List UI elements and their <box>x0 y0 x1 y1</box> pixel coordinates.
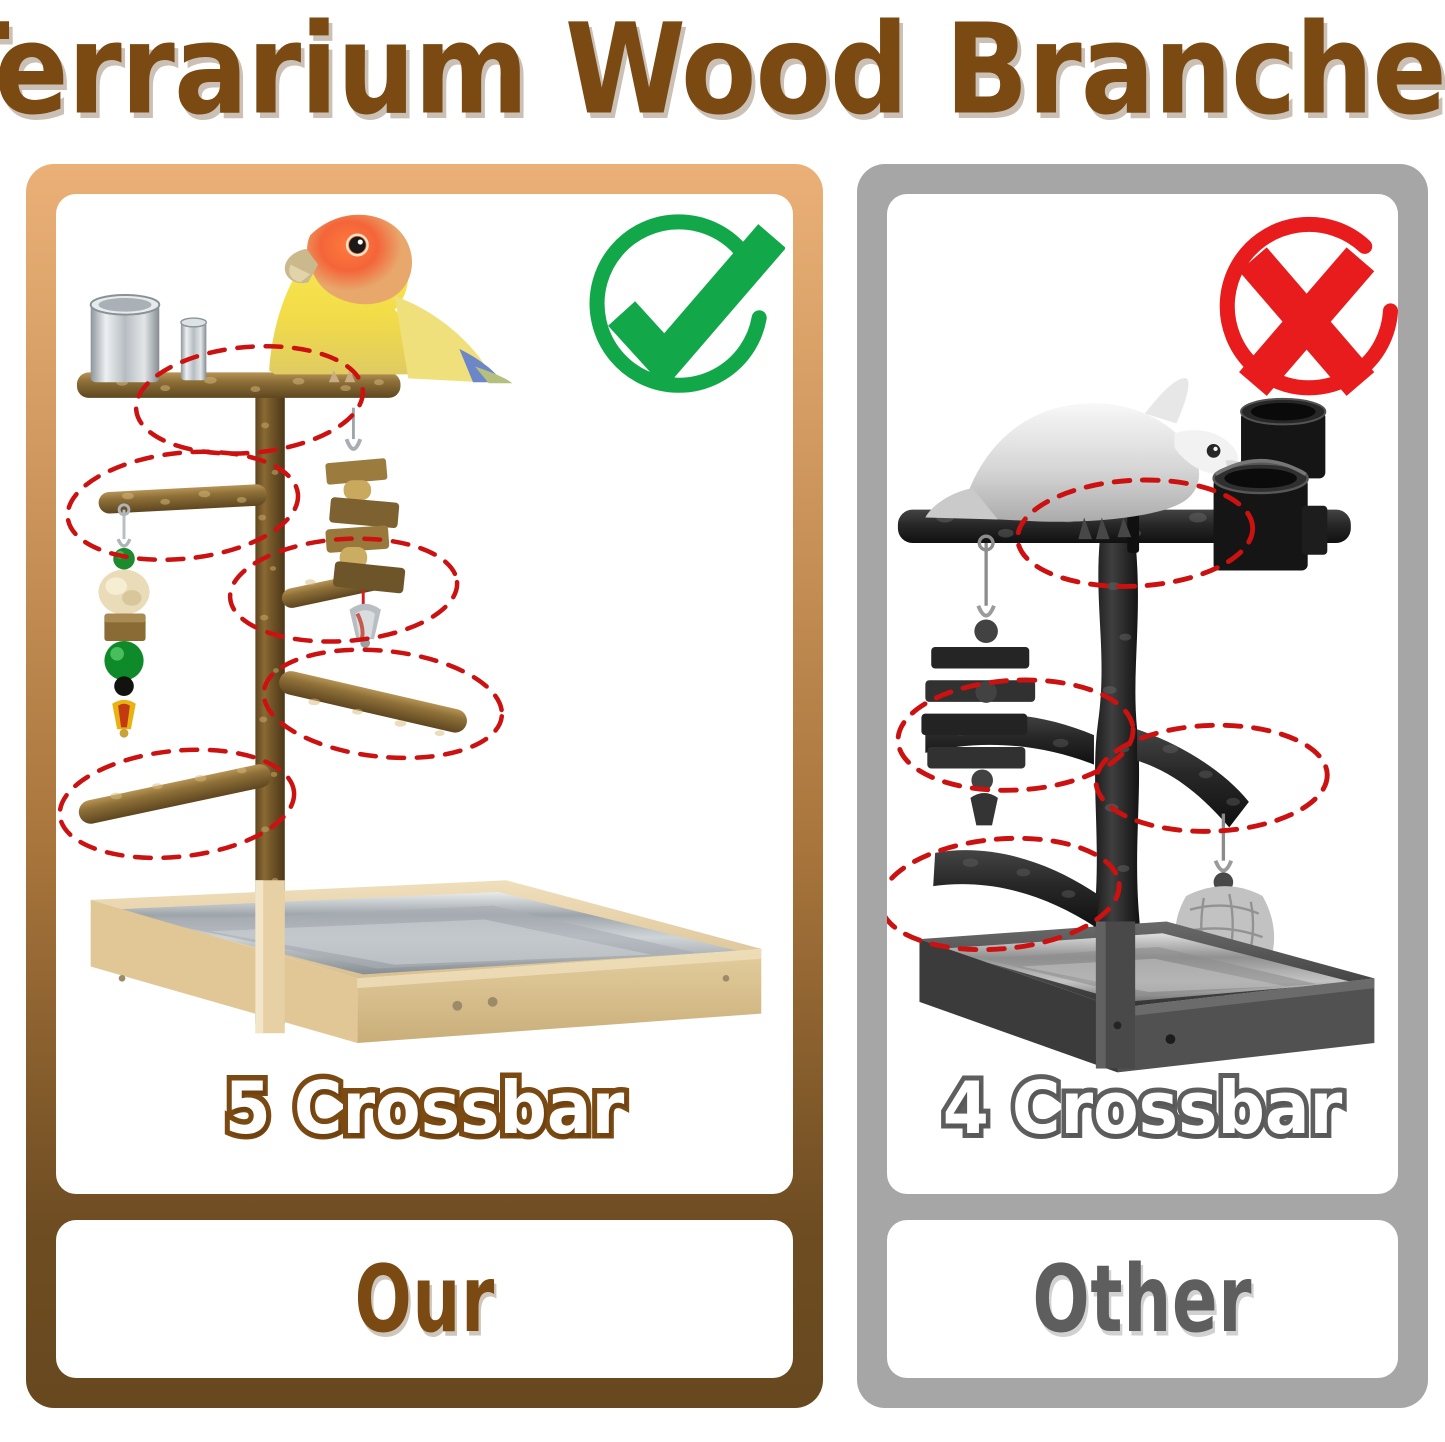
crossbar-4-bottom-left-branch <box>933 850 1100 927</box>
dark-base-tray <box>919 921 1374 1072</box>
product-card-other: 4 Crossbar <box>887 194 1398 1194</box>
crossbar-label-other: 4 Crossbar <box>907 1066 1377 1150</box>
wood-slat-toy <box>921 536 1035 825</box>
crossbar-3-right-lower-branch <box>1137 729 1249 827</box>
footer-card-our: Our <box>56 1220 793 1378</box>
wood-block-chew-toy <box>325 408 405 648</box>
comparison-panel-other: 4 Crossbar Other <box>857 164 1428 1408</box>
footer-label-other: Other <box>1033 1245 1253 1353</box>
annotation-ellipse-1 <box>132 337 368 462</box>
page-title: Terrarium Wood Branches <box>51 0 1395 149</box>
crossbar-2-left-perch <box>98 484 268 514</box>
crossbar-4-right-long-perch <box>277 669 470 736</box>
bead-loofah-toy <box>99 505 150 738</box>
comparison-panel-our: 5 Crossbar Our <box>26 164 823 1408</box>
pine-base-tray <box>85 870 761 1043</box>
bird-lovebird <box>269 215 512 383</box>
cross-mark-icon <box>1197 212 1412 427</box>
footer-card-other: Other <box>887 1220 1398 1378</box>
stainless-steel-cups <box>91 295 207 382</box>
crossbar-label-our: 5 Crossbar <box>85 1066 763 1150</box>
check-mark-icon <box>570 206 785 421</box>
product-card-our: 5 Crossbar <box>56 194 793 1194</box>
crossbar-5-bottom-left-perch <box>77 762 274 826</box>
footer-label-our: Our <box>354 1245 495 1353</box>
